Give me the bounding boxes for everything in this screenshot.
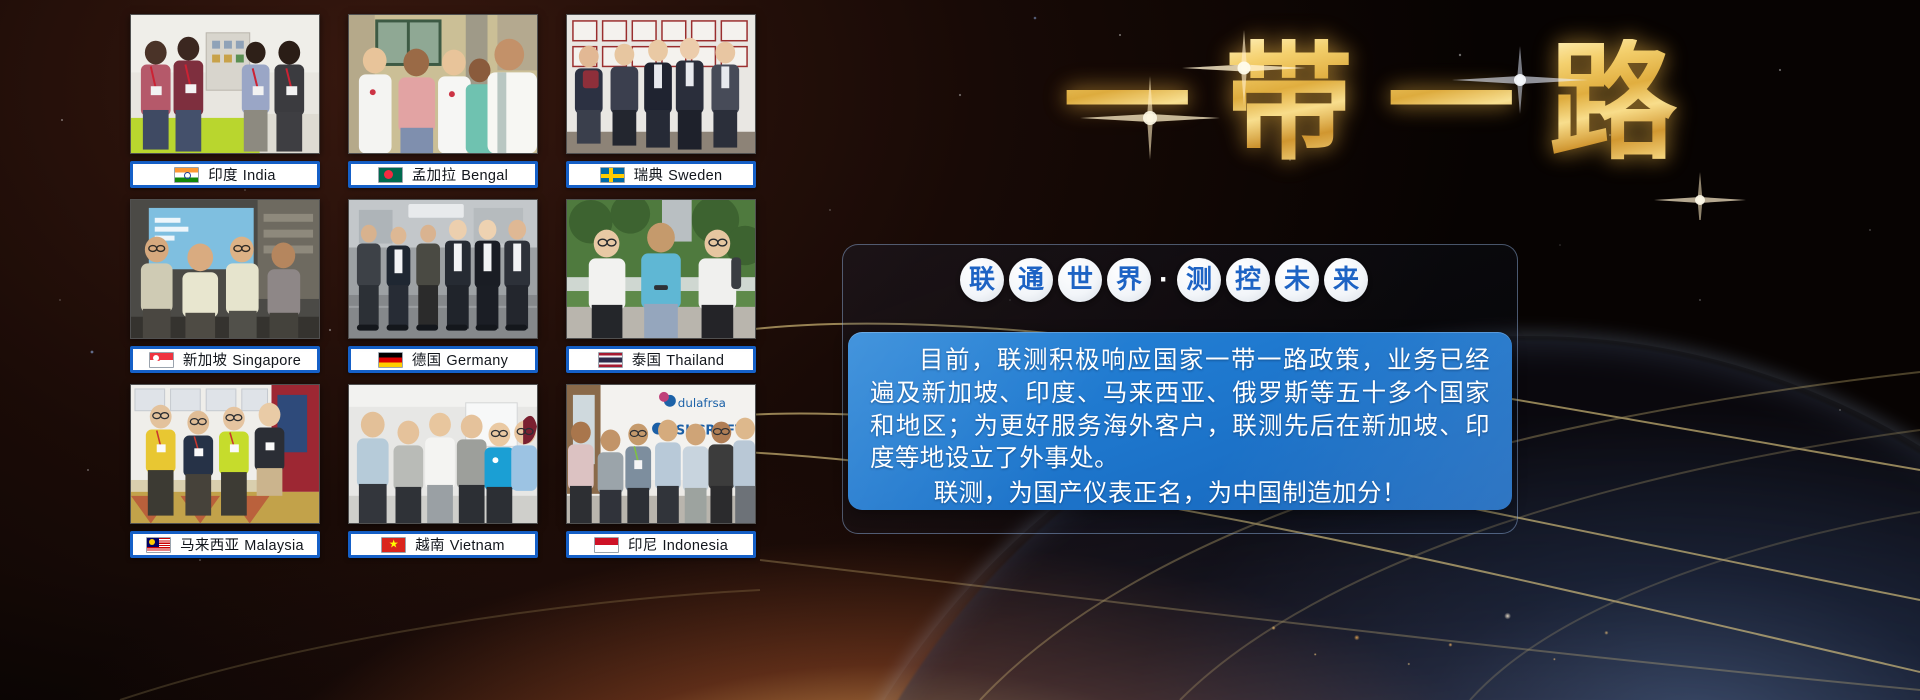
- country-label: 新加坡 Singapore: [130, 346, 320, 373]
- india-flag: [174, 167, 199, 183]
- gallery-card-bengal[interactable]: 孟加拉 Bengal: [348, 14, 538, 188]
- country-name-en: Thailand: [666, 353, 724, 369]
- description-card: 目前，联测积极响应国家一带一路政策，业务已经遍及新加坡、印度、马来西亚、俄罗斯等…: [848, 332, 1512, 510]
- gallery-card-india[interactable]: 印度 India: [130, 14, 320, 188]
- malaysia-flag: [146, 537, 171, 553]
- country-label: 印度 India: [130, 161, 320, 188]
- calligraphy-char-2: 带: [1225, 39, 1353, 167]
- photo-india-exhibition-booth: [130, 14, 320, 154]
- gallery-card-malaysia[interactable]: 马来西亚 Malaysia: [130, 384, 320, 558]
- country-name-cn: 泰国: [632, 353, 662, 369]
- country-name-en: Vietnam: [450, 538, 505, 554]
- slogan-bubble-7: 未: [1275, 258, 1319, 302]
- thailand-flag: [598, 352, 623, 368]
- country-name-cn: 孟加拉: [412, 168, 456, 184]
- country-name-en: Indonesia: [662, 538, 728, 554]
- calligraphy-char-3: 一: [1387, 39, 1515, 167]
- slogan-headline: 联 通 世 界 · 测 控 未 来: [960, 258, 1368, 302]
- description-paragraph-2: 联测，为国产仪表正名，为中国制造加分！: [870, 477, 1490, 510]
- country-name-cn: 德国: [412, 353, 442, 369]
- slogan-bubble-1: 联: [960, 258, 1004, 302]
- country-name-cn: 瑞典: [634, 168, 664, 184]
- country-label: 泰国 Thailand: [566, 346, 756, 373]
- photo-malaysia-tradeshow-group: [130, 384, 320, 524]
- slogan-separator: ·: [1156, 265, 1172, 295]
- indonesia-flag: [594, 537, 619, 553]
- country-label: 马来西亚 Malaysia: [130, 531, 320, 558]
- gallery-card-thailand[interactable]: 泰国 Thailand: [566, 199, 756, 373]
- country-label: 德国 Germany: [348, 346, 538, 373]
- country-name-en: India: [243, 168, 276, 184]
- gallery-card-germany[interactable]: 德国 Germany: [348, 199, 538, 373]
- slogan-bubble-3: 世: [1058, 258, 1102, 302]
- calligraphy-char-4: 路: [1549, 39, 1677, 167]
- country-name-cn: 印度: [208, 168, 238, 184]
- photo-indonesia-lobby-group: dulafrsa ASHCROFT: [566, 384, 756, 524]
- country-name-en: Germany: [446, 353, 508, 369]
- gallery-card-sweden[interactable]: 瑞典 Sweden: [566, 14, 756, 188]
- country-label: 孟加拉 Bengal: [348, 161, 538, 188]
- photo-thailand-outdoor-group: [566, 199, 756, 339]
- photo-vietnam-office-group: [348, 384, 538, 524]
- slogan-bubble-2: 通: [1009, 258, 1053, 302]
- country-label: 瑞典 Sweden: [566, 161, 756, 188]
- slogan-bubble-4: 界: [1107, 258, 1151, 302]
- country-name-en: Bengal: [461, 168, 508, 184]
- gallery-card-vietnam[interactable]: 越南 Vietnam: [348, 384, 538, 558]
- slogan-bubble-8: 来: [1324, 258, 1368, 302]
- slogan-bubble-5: 测: [1177, 258, 1221, 302]
- photo-sweden-office-group: [566, 14, 756, 154]
- country-name-cn: 印尼: [628, 538, 658, 554]
- photo-singapore-meeting-group: [130, 199, 320, 339]
- singapore-flag: [149, 352, 174, 368]
- belt-and-road-calligraphy: 一 带 一 路: [1020, 8, 1720, 198]
- svg-text:dulafrsa: dulafrsa: [678, 396, 726, 410]
- vietnam-flag: [381, 537, 406, 553]
- gallery-card-singapore[interactable]: 新加坡 Singapore: [130, 199, 320, 373]
- country-label: 越南 Vietnam: [348, 531, 538, 558]
- gallery-card-indonesia[interactable]: dulafrsa ASHCROFT: [566, 384, 756, 558]
- country-name-en: Sweden: [668, 168, 722, 184]
- description-paragraph-1: 目前，联测积极响应国家一带一路政策，业务已经遍及新加坡、印度、马来西亚、俄罗斯等…: [870, 344, 1490, 475]
- photo-germany-plant-group: [348, 199, 538, 339]
- calligraphy-char-1: 一: [1063, 39, 1191, 167]
- country-name-en: Singapore: [232, 353, 301, 369]
- belt-and-road-banner: 印度 India: [0, 0, 1920, 700]
- country-name-en: Malaysia: [244, 538, 304, 554]
- country-gallery-grid: 印度 India: [130, 14, 756, 572]
- country-label: 印尼 Indonesia: [566, 531, 756, 558]
- country-name-cn: 马来西亚: [180, 538, 239, 554]
- slogan-bubble-6: 控: [1226, 258, 1270, 302]
- sweden-flag: [600, 167, 625, 183]
- photo-bengal-factory-group: [348, 14, 538, 154]
- right-content-panel: 一 带 一 路 联 通 世 界 · 测 控 未 来 目前，联测积极: [820, 0, 1920, 700]
- bangladesh-flag: [378, 167, 403, 183]
- country-name-cn: 新加坡: [183, 353, 227, 369]
- country-name-cn: 越南: [415, 538, 445, 554]
- germany-flag: [378, 352, 403, 368]
